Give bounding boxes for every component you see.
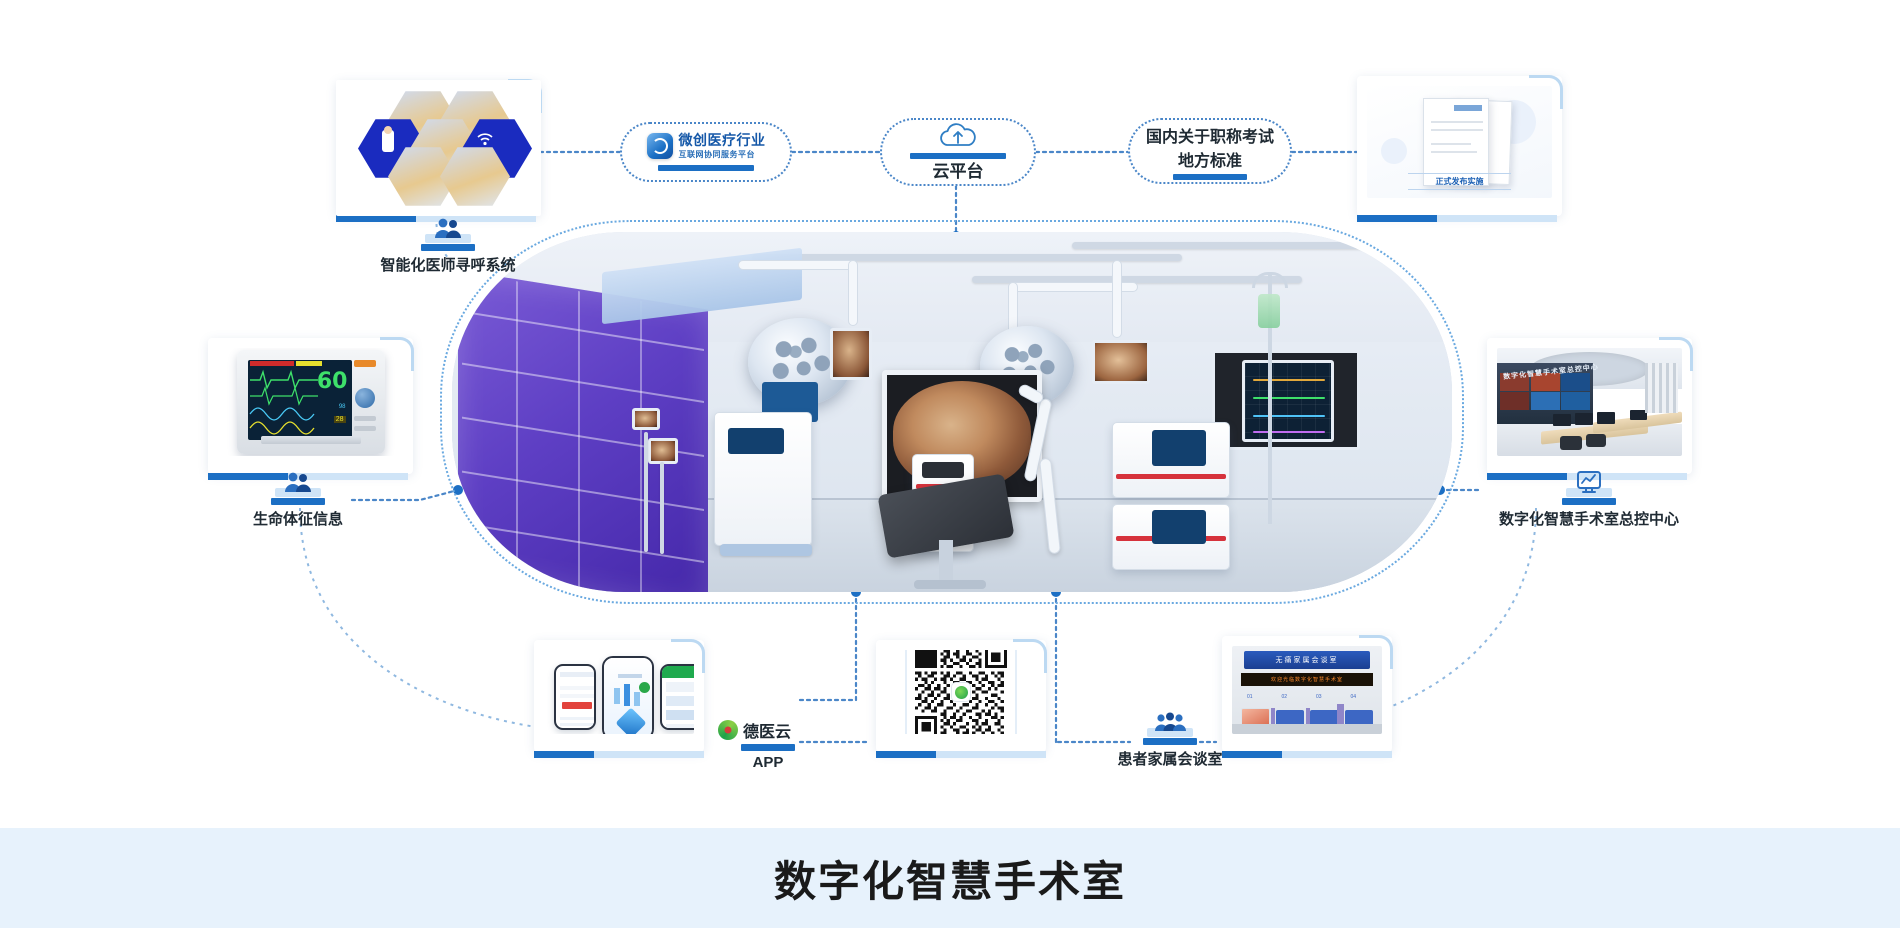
- deyiyun-logo-icon: [718, 720, 738, 740]
- standard-underline: [1173, 174, 1247, 180]
- monitor-resp: 28: [334, 416, 346, 423]
- cloud-upload-icon: [936, 123, 980, 151]
- document-banner: 正式发布实施: [1408, 173, 1512, 190]
- weichuang-logo: 微创医疗行业 互联网协同服务平台: [647, 133, 766, 159]
- weichuang-underline: [658, 165, 754, 171]
- pill-weichuang-platform[interactable]: 微创医疗行业 互联网协同服务平台: [620, 122, 792, 182]
- cloud-app-icon: [647, 133, 673, 159]
- monitor-heart-rate: 60: [317, 369, 348, 394]
- card-paging-illustration: [336, 80, 541, 216]
- card-standard-document: 正式发布实施: [1357, 76, 1562, 216]
- app-phones-thumb: [544, 650, 694, 734]
- node-vital-signs-label: 生命体征信息: [198, 508, 398, 529]
- weichuang-subtitle: 互联网协同服务平台: [679, 149, 766, 160]
- pill-national-standard[interactable]: 国内关于职称考试 地方标准: [1128, 118, 1292, 184]
- node-doctor-paging[interactable]: 智能化医师寻呼系统: [348, 218, 548, 275]
- monitor-spo2: 98: [339, 404, 346, 410]
- node-control-center[interactable]: 数字化智慧手术室总控中心: [1484, 472, 1694, 529]
- patient-monitor-thumb: 60 98 28: [218, 348, 403, 456]
- standard-document-thumb: 正式发布实施: [1367, 86, 1552, 198]
- hero-photo: [452, 232, 1452, 592]
- card-control-center: 数字化智慧手术室总控中心: [1487, 338, 1692, 474]
- weichuang-title: 微创医疗行业: [679, 133, 766, 148]
- node-control-center-label: 数字化智慧手术室总控中心: [1484, 508, 1694, 529]
- cloud-underline: [910, 153, 1006, 159]
- three-people-icon: [1153, 710, 1187, 734]
- card-qr-code: [876, 640, 1046, 752]
- node-family-room-label: 患者家属会谈室: [1075, 748, 1265, 769]
- operating-room-hero: [452, 232, 1452, 592]
- deyiyun-brand: 德医云: [718, 718, 791, 742]
- qr-code-thumb: [886, 650, 1036, 734]
- diagram-stage: 正式发布实施 60 98 28: [0, 0, 1900, 820]
- monitor-chart-icon: [1575, 470, 1603, 495]
- pill-cloud-platform[interactable]: 云平台: [880, 118, 1036, 186]
- two-people-icon: [283, 470, 313, 494]
- consult-room-led: 欢迎光临数字化智慧手术室: [1241, 673, 1373, 686]
- consult-room-banner: 无痛家属会谈室: [1244, 651, 1370, 669]
- qr-code-image[interactable]: [915, 650, 1007, 734]
- deyiyun-brand-text: 德医云: [743, 718, 791, 742]
- qr-center-logo-icon: [951, 682, 971, 702]
- node-doctor-paging-label: 智能化医师寻呼系统: [348, 254, 548, 275]
- page-title: 数字化智慧手术室: [774, 848, 1126, 909]
- card-patient-monitor: 60 98 28: [208, 338, 413, 474]
- standard-line1: 国内关于职称考试: [1146, 123, 1274, 147]
- wifi-icon: [476, 132, 494, 146]
- card-app-phones: [534, 640, 704, 752]
- paging-illustration-thumb: [336, 80, 541, 216]
- node-family-room[interactable]: 患者家属会谈室: [1075, 712, 1265, 769]
- control-center-thumb: 数字化智慧手术室总控中心: [1497, 348, 1682, 456]
- node-vital-signs[interactable]: 生命体征信息: [198, 472, 398, 529]
- cloud-platform-label: 云平台: [933, 162, 984, 182]
- two-people-icon: [433, 216, 463, 240]
- standard-line2: 地方标准: [1178, 147, 1242, 171]
- node-app-label: APP: [713, 754, 823, 771]
- node-app[interactable]: APP: [713, 742, 823, 771]
- footer-banner: 数字化智慧手术室: [0, 828, 1900, 928]
